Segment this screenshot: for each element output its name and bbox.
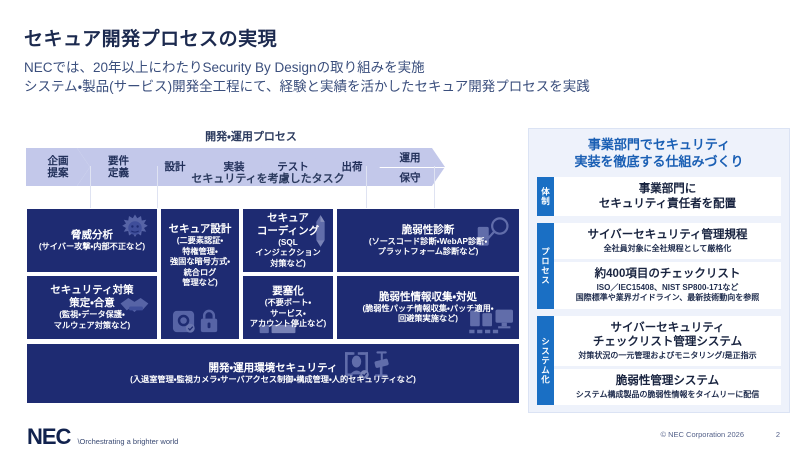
divider <box>90 166 91 208</box>
governance-card[interactable]: サイバーセキュリティ管理規程全社員対象に全社規程として厳格化 <box>554 223 781 259</box>
governance-card-heading: サイバーセキュリティ管理規程 <box>558 228 777 243</box>
governance-card[interactable]: 約400項目のチェックリストISO／IEC15408、NIST SP800-17… <box>554 262 781 309</box>
governance-card[interactable]: サイバーセキュリティチェックリスト管理システム対策状況の一元管理およびモニタリン… <box>554 316 781 367</box>
governance-group-tab: プロセス <box>537 223 554 309</box>
governance-title-line-2: 実装を徹底する仕組みづくり <box>537 153 781 170</box>
task-cell-secure-design[interactable]: セキュア設計 (二要素認証・特権管理・強固な暗号方式・統合ログ管理など) <box>161 209 239 339</box>
governance-card-heading: 脆弱性管理システム <box>558 374 777 389</box>
page-number: 2 <box>776 430 780 439</box>
task-cell-countermeasure-agreement[interactable]: セキュリティ対策策定・合意 (監視・データ保護・マルウェア対策など) <box>27 276 157 339</box>
task-title: セキュアコーディング <box>255 212 321 238</box>
task-sub: (サイバー攻撃・内部不正など) <box>39 242 145 253</box>
governance-group-cards: 事業部門にセキュリティ責任者を配置 <box>554 177 781 216</box>
task-sub: (二要素認証・特権管理・強固な暗号方式・統合ログ管理など) <box>169 236 232 289</box>
divider <box>366 166 367 208</box>
subtitle-line-2: システム・製品(サービス)開発全工程にて、経験と実績を活かしたセキュア開発プロセ… <box>24 77 590 96</box>
governance-card-heading: 約400項目のチェックリスト <box>558 267 777 282</box>
task-sub: (不要ポート・サービス・アカウント停止など) <box>250 298 326 330</box>
nec-wordmark: NEC <box>27 424 70 450</box>
nec-logo: NEC \Orchestrating a brighter world <box>27 424 178 450</box>
task-caption: セキュリティを考慮したタスク <box>148 170 388 186</box>
task-sub: (ソースコード診断・WebAP診断・プラットフォーム診断など) <box>369 237 487 258</box>
governance-group-cards: サイバーセキュリティ管理規程全社員対象に全社規程として厳格化約400項目のチェッ… <box>554 223 781 309</box>
task-title: 開発・運用環境セキュリティ <box>130 362 416 375</box>
task-cell-vulnerability-assessment[interactable]: 脆弱性診断 (ソースコード診断・WebAP診断・プラットフォーム診断など) <box>337 209 519 272</box>
flow-stage-label-top: 運用 <box>367 148 445 167</box>
task-cell-secure-coding[interactable]: セキュアコーディング (SQLインジェクション対策など) <box>243 209 333 272</box>
task-title: セキュア設計 <box>169 223 232 236</box>
governance-card-detail: ISO／IEC15408、NIST SP800-171など国際標準や業界ガイドラ… <box>558 283 777 304</box>
task-sub: (脆弱性パッチ情報収集・パッチ適用・回避策実施など) <box>362 304 493 325</box>
security-task-matrix: 脅威分析 (サイバー攻撃・内部不正など) セキュリティ対策策定・合意 (監視・デ… <box>27 209 519 404</box>
subtitle-line-1: NECでは、20年以上にわたりSecurity By Designの取り組みを実… <box>24 58 590 77</box>
governance-group-2: プロセスサイバーセキュリティ管理規程全社員対象に全社規程として厳格化約400項目… <box>537 223 781 309</box>
task-title: 要塞化 <box>250 285 326 298</box>
page-title: セキュア開発プロセスの実現 <box>24 24 277 51</box>
task-title: 脅威分析 <box>39 229 145 242</box>
governance-group-tab: システム化 <box>537 316 554 406</box>
subtitle: NECでは、20年以上にわたりSecurity By Designの取り組みを実… <box>24 58 590 96</box>
fingerprint-lock-icon <box>172 308 222 335</box>
task-cell-hardening[interactable]: 要塞化 (不要ポート・サービス・アカウント停止など) <box>243 276 333 339</box>
flow-stage-label: 要件定義 <box>108 155 129 180</box>
flow-stage-1[interactable]: 企画提案 <box>26 148 90 186</box>
governance-groups: 体制事業部門にセキュリティ責任者を配置プロセスサイバーセキュリティ管理規程全社員… <box>537 177 781 405</box>
governance-card-detail: 全社員対象に全社規程として厳格化 <box>558 244 777 255</box>
governance-panel-title: 事業部門でセキュリティ 実装を徹底する仕組みづくり <box>537 136 781 170</box>
divider <box>434 166 435 208</box>
governance-card-detail: 対策状況の一元管理およびモニタリング/是正指示 <box>558 351 777 362</box>
governance-card[interactable]: 事業部門にセキュリティ責任者を配置 <box>554 177 781 216</box>
nec-tagline: \Orchestrating a brighter world <box>77 437 178 446</box>
governance-card-detail: システム構成製品の脆弱性情報をタイムリーに配信 <box>558 390 777 401</box>
governance-group-tab: 体制 <box>537 177 554 216</box>
flow-stage-label: 企画提案 <box>48 155 69 180</box>
task-title: 脆弱性情報収集・対処 <box>362 291 493 304</box>
governance-group-cards: サイバーセキュリティチェックリスト管理システム対策状況の一元管理およびモニタリン… <box>554 316 781 406</box>
governance-card[interactable]: 脆弱性管理システムシステム構成製品の脆弱性情報をタイムリーに配信 <box>554 369 781 405</box>
task-sub: (SQLインジェクション対策など) <box>255 238 321 270</box>
governance-title-line-1: 事業部門でセキュリティ <box>537 136 781 153</box>
task-cell-vulnerability-info[interactable]: 脆弱性情報収集・対処 (脆弱性パッチ情報収集・パッチ適用・回避策実施など) <box>337 276 519 339</box>
task-cell-environment-security[interactable]: 開発・運用環境セキュリティ (入退室管理・監視カメラ・サーバアクセス制御・構成管… <box>27 344 519 403</box>
governance-card-heading: 事業部門にセキュリティ責任者を配置 <box>558 182 777 211</box>
task-title: 脆弱性診断 <box>369 224 487 237</box>
task-cell-threat-analysis[interactable]: 脅威分析 (サイバー攻撃・内部不正など) <box>27 209 157 272</box>
copyright: © NEC Corporation 2026 <box>661 430 745 439</box>
governance-panel: 事業部門でセキュリティ 実装を徹底する仕組みづくり 体制事業部門にセキュリティ責… <box>528 128 790 413</box>
divider <box>157 166 158 208</box>
task-sub: (監視・データ保護・マルウェア対策など) <box>50 310 133 331</box>
governance-card-heading: サイバーセキュリティチェックリスト管理システム <box>558 321 777 350</box>
governance-group-1: 体制事業部門にセキュリティ責任者を配置 <box>537 177 781 216</box>
task-title: セキュリティ対策策定・合意 <box>50 284 133 310</box>
task-sub: (入退室管理・監視カメラ・サーバアクセス制御・構成管理・人的セキュリティなど) <box>130 375 416 386</box>
flow-caption: 開発・運用プロセス <box>0 128 516 144</box>
governance-group-3: システム化サイバーセキュリティチェックリスト管理システム対策状況の一元管理および… <box>537 316 781 406</box>
